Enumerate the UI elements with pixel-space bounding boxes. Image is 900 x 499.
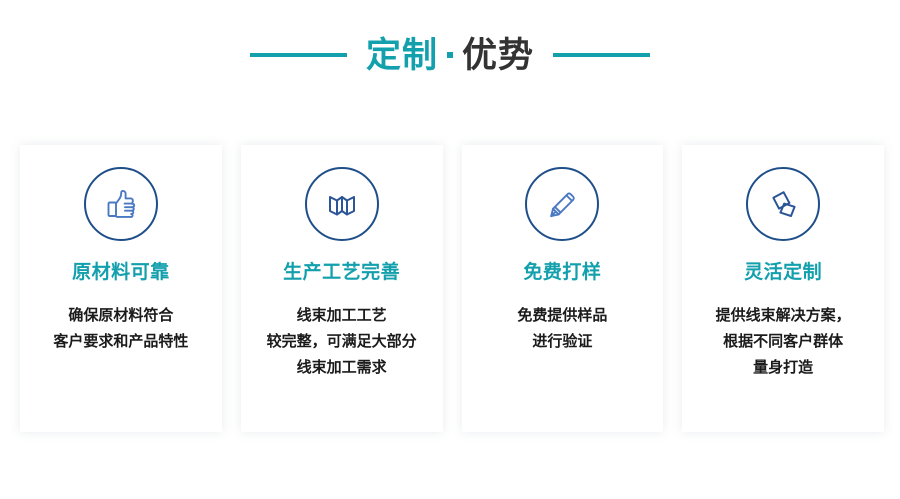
page-title: 定制 优势 [366,38,534,73]
header-rule-left-icon [250,53,347,57]
card-title: 原材料可靠 [72,263,170,282]
card-description-line: 线束加工工艺 [252,303,432,329]
advantage-card[interactable]: 生产工艺完善 线束加工工艺 较完整，可满足大部分 线束加工需求 [241,145,443,432]
card-description-line: 量身打造 [693,355,873,381]
card-description-line: 根据不同客户群体 [693,329,873,355]
card-description: 免费提供样品 进行验证 [472,303,652,355]
pencil-icon [542,184,582,224]
card-title: 灵活定制 [744,263,822,282]
icon-circle [305,167,379,241]
page-title-sub: 优势 [462,38,534,73]
card-description-line: 线束加工需求 [252,355,432,381]
thumbs-up-icon [101,184,141,224]
advantage-card[interactable]: 灵活定制 提供线束解决方案， 根据不同客户群体 量身打造 [682,145,884,432]
card-description-line: 提供线束解决方案， [693,303,873,329]
icon-circle [84,167,158,241]
card-description: 确保原材料符合 客户要求和产品特性 [31,303,211,355]
title-separator-dot-icon [447,52,453,58]
header-rule-right-icon [553,53,650,57]
card-description: 线束加工工艺 较完整，可满足大部分 线束加工需求 [252,303,432,381]
page-title-main: 定制 [366,38,438,73]
icon-circle [746,167,820,241]
card-title: 生产工艺完善 [283,263,400,282]
card-description-line: 较完整，可满足大部分 [252,329,432,355]
advantage-card[interactable]: 免费打样 免费提供样品 进行验证 [462,145,664,432]
advantage-card[interactable]: 原材料可靠 确保原材料符合 客户要求和产品特性 [20,145,222,432]
advantage-cards-row: 原材料可靠 确保原材料符合 客户要求和产品特性 生产工艺完善 线束加工工艺 较完… [20,145,884,432]
card-description-line: 确保原材料符合 [31,303,211,329]
card-description-line: 免费提供样品 [472,303,652,329]
card-title: 免费打样 [523,263,601,282]
stacked-cards-icon [763,184,803,224]
card-description-line: 客户要求和产品特性 [31,329,211,355]
section-header: 定制 优势 [0,24,900,86]
icon-circle [525,167,599,241]
folded-map-icon [322,184,362,224]
card-description: 提供线束解决方案， 根据不同客户群体 量身打造 [693,303,873,381]
card-description-line: 进行验证 [472,329,652,355]
